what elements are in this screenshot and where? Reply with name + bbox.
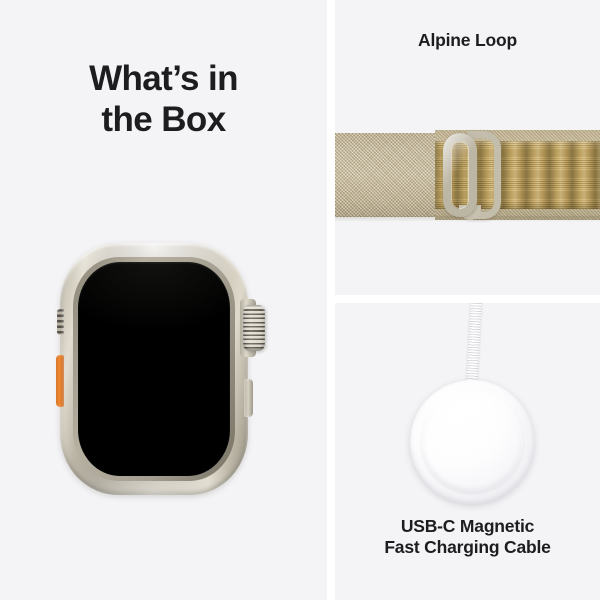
page-title-line-2: the Box — [101, 100, 225, 139]
apple-watch-ultra-image — [57, 243, 270, 495]
watch-digital-crown — [243, 305, 265, 351]
charging-cable-title: USB-C MagneticFast Charging Cable — [335, 516, 600, 557]
whats-in-the-box-graphic: What’s inthe Box Alpine Loop USB-C Magne… — [0, 0, 600, 600]
page-title-line-1: What’s in — [89, 59, 238, 98]
watch-speaker-grille-icon — [57, 309, 64, 335]
watch-side-button — [244, 379, 253, 417]
charging-cable-title-line-1: USB-C Magnetic — [401, 516, 534, 536]
page-title: What’s inthe Box — [0, 58, 327, 141]
buckle-ring — [443, 133, 477, 217]
charging-cable-title-line-2: Fast Charging Cable — [384, 537, 550, 557]
alpine-loop-band-image — [335, 130, 600, 220]
band-g-hook-buckle — [443, 127, 495, 223]
charger-puck-inner-disc — [421, 391, 523, 493]
charger-braided-cable — [466, 303, 482, 390]
watch-action-button — [56, 355, 64, 407]
alpine-loop-title: Alpine Loop — [335, 30, 600, 51]
watch-display — [78, 262, 230, 476]
